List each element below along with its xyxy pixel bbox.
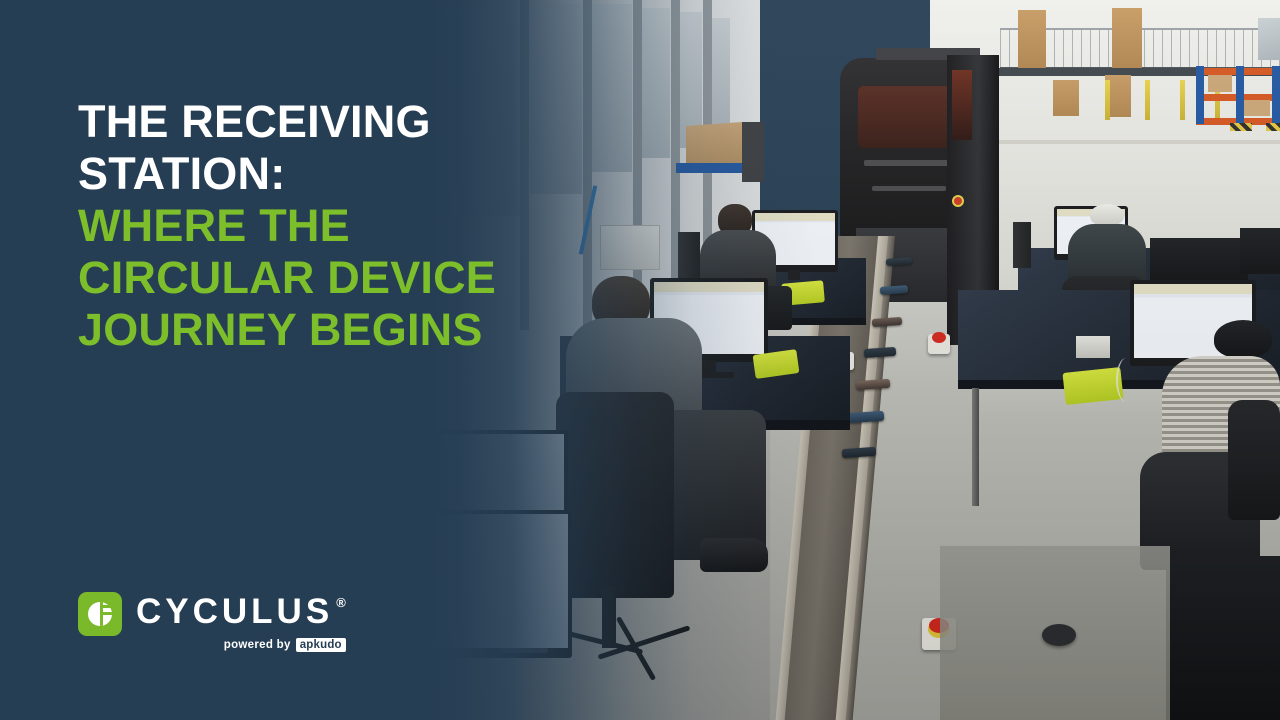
- corridor-window-4: [642, 8, 670, 158]
- cable-right: [1116, 358, 1136, 402]
- headline-line-4: CIRCULAR DEVICE: [78, 252, 598, 304]
- upper-door-left: [1018, 10, 1046, 68]
- safety-bollard-3: [1180, 80, 1185, 120]
- slide-canvas: THE RECEIVING STATION: WHERE THE CIRCULA…: [0, 0, 1280, 720]
- monitor-left-lower: [428, 510, 572, 658]
- lower-door-left: [1053, 80, 1079, 116]
- brand-logo: CYCULUS ® powered by apkudo: [78, 592, 346, 652]
- chair-foreground: [556, 392, 674, 598]
- headline-line-5: JOURNEY BEGINS: [78, 304, 598, 356]
- parts-bin-right-far-2: [1240, 228, 1280, 274]
- chair-foreground-stem: [602, 586, 616, 648]
- monitor-foreground-header: [654, 282, 764, 292]
- machine-handle-1: [864, 160, 952, 166]
- cyculus-mark-icon: [78, 592, 122, 636]
- machine-handle-2: [872, 186, 946, 191]
- worker-foreground-shoe: [700, 538, 768, 572]
- pc-tower-right-near: [1076, 336, 1110, 358]
- hi-vis-vest-right: [1062, 367, 1123, 405]
- cyculus-disc-notch: [102, 605, 114, 608]
- logo-brand-name: CYCULUS: [136, 594, 333, 630]
- logo-tagline: powered by apkudo: [136, 638, 346, 652]
- emergency-stop-button-2[interactable]: [932, 332, 946, 343]
- apkudo-badge: apkudo: [296, 638, 346, 652]
- far-right-window: [1258, 18, 1280, 60]
- parts-bin-right-far: [1150, 238, 1248, 282]
- upper-door-right: [1112, 8, 1142, 68]
- corridor-window-3: [592, 4, 632, 172]
- logo-text-block: CYCULUS ® powered by apkudo: [136, 592, 346, 652]
- cardboard-box: [686, 122, 742, 168]
- pallet-rack: [1196, 66, 1280, 124]
- registered-trademark-icon: ®: [336, 596, 346, 609]
- worker-right-far-cap: [1090, 204, 1124, 226]
- wall-control-box: [600, 225, 660, 270]
- chair-right-near: [1228, 400, 1280, 520]
- monitor-left-upper-screen: [440, 434, 564, 518]
- monitor-left-lower-screen: [432, 514, 568, 648]
- headline-line-1: THE RECEIVING: [78, 96, 598, 148]
- machine-column-window: [952, 70, 972, 140]
- wall-box-far: [742, 122, 764, 182]
- safety-bollard-2: [1145, 80, 1150, 120]
- monitor-center-header: [755, 213, 835, 221]
- equipment-right-bottom: [1166, 556, 1280, 720]
- worker-right-near-cap: [1214, 320, 1272, 358]
- blue-cart: [676, 163, 742, 173]
- cable-port-right: [1042, 624, 1076, 646]
- headline-line-2: STATION:: [78, 148, 598, 200]
- safety-bollard-1: [1105, 80, 1110, 120]
- logo-wordmark: CYCULUS ®: [136, 594, 346, 630]
- pc-tower-center: [678, 232, 700, 280]
- pc-tower-right-far: [1013, 222, 1031, 268]
- monitor-center-stand: [788, 270, 800, 280]
- monitor-right-near-header: [1134, 284, 1252, 294]
- page-title: THE RECEIVING STATION: WHERE THE CIRCULA…: [78, 96, 598, 356]
- machine-estop-knob: [952, 195, 964, 207]
- headline-line-3: WHERE THE: [78, 200, 598, 252]
- powered-by-label: powered by: [224, 639, 291, 651]
- desk-right-near-leg: [972, 388, 979, 506]
- corridor-window-6: [712, 18, 730, 140]
- monitor-left-lower-controls: [500, 648, 548, 653]
